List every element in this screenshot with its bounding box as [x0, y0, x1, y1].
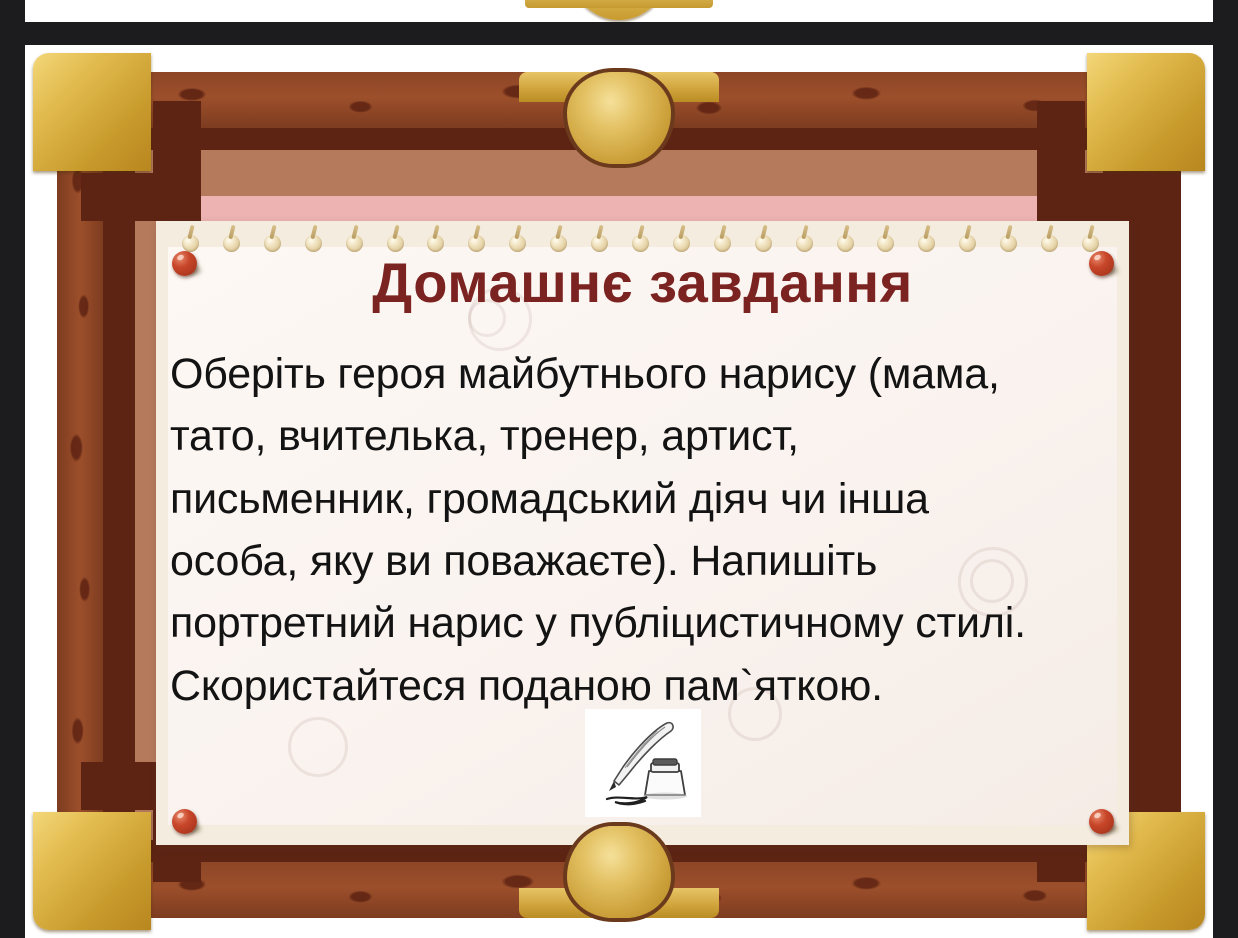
- backdrop-left: [0, 0, 25, 938]
- gold-clasp-bottom-icon: [519, 856, 719, 918]
- page-title: Домашнє завдання: [156, 255, 1129, 311]
- slide-content: Домашнє завдання Оберіть героя майбутньо…: [156, 221, 1129, 845]
- notepad: Домашнє завдання Оберіть героя майбутньо…: [156, 221, 1129, 845]
- homework-bullet-item: Оберіть героя майбутнього нарису (мама,т…: [170, 343, 1125, 717]
- homework-text-line: портретний нарис у публіцистичному стилі…: [170, 592, 1125, 654]
- backdrop-slide-gap: [25, 22, 1213, 45]
- homework-text-line: тато, вчителька, тренер, артист,: [170, 405, 1125, 467]
- leather-texture-right: [57, 102, 103, 888]
- homework-text-line: Скористайтеся поданою пам`яткою.: [170, 655, 1125, 717]
- pushpin-top-left-icon: [168, 249, 202, 279]
- gold-corner-bracket-bottom-left-icon: [33, 812, 151, 930]
- slide-canvas: Домашнє завдання Оберіть героя майбутньо…: [25, 45, 1213, 938]
- gold-corner-bracket-top-right-icon: [1087, 53, 1205, 171]
- previous-slide-edge: [25, 0, 1213, 22]
- pushpin-bottom-left-icon: [168, 807, 202, 837]
- homework-text-line: письменник, громадський діяч чи інша: [170, 468, 1125, 530]
- homework-bullet-text: Оберіть героя майбутнього нарису (мама,т…: [170, 343, 1125, 717]
- pushpin-top-right-icon: [1085, 249, 1119, 279]
- backdrop-right: [1213, 0, 1238, 938]
- pushpin-bottom-right-icon: [1085, 807, 1119, 837]
- homework-text-line: Оберіть героя майбутнього нарису (мама,: [170, 343, 1125, 405]
- homework-text-line: особа, яку ви поважаєте). Напишіть: [170, 530, 1125, 592]
- screen: Домашнє завдання Оберіть героя майбутньо…: [0, 0, 1238, 938]
- gold-clasp-ornament-icon: [571, 0, 667, 20]
- gold-clasp-top-icon: [519, 72, 719, 134]
- quill-pen-and-inkwell-icon: [585, 709, 701, 817]
- gold-corner-bracket-top-left-icon: [33, 53, 151, 171]
